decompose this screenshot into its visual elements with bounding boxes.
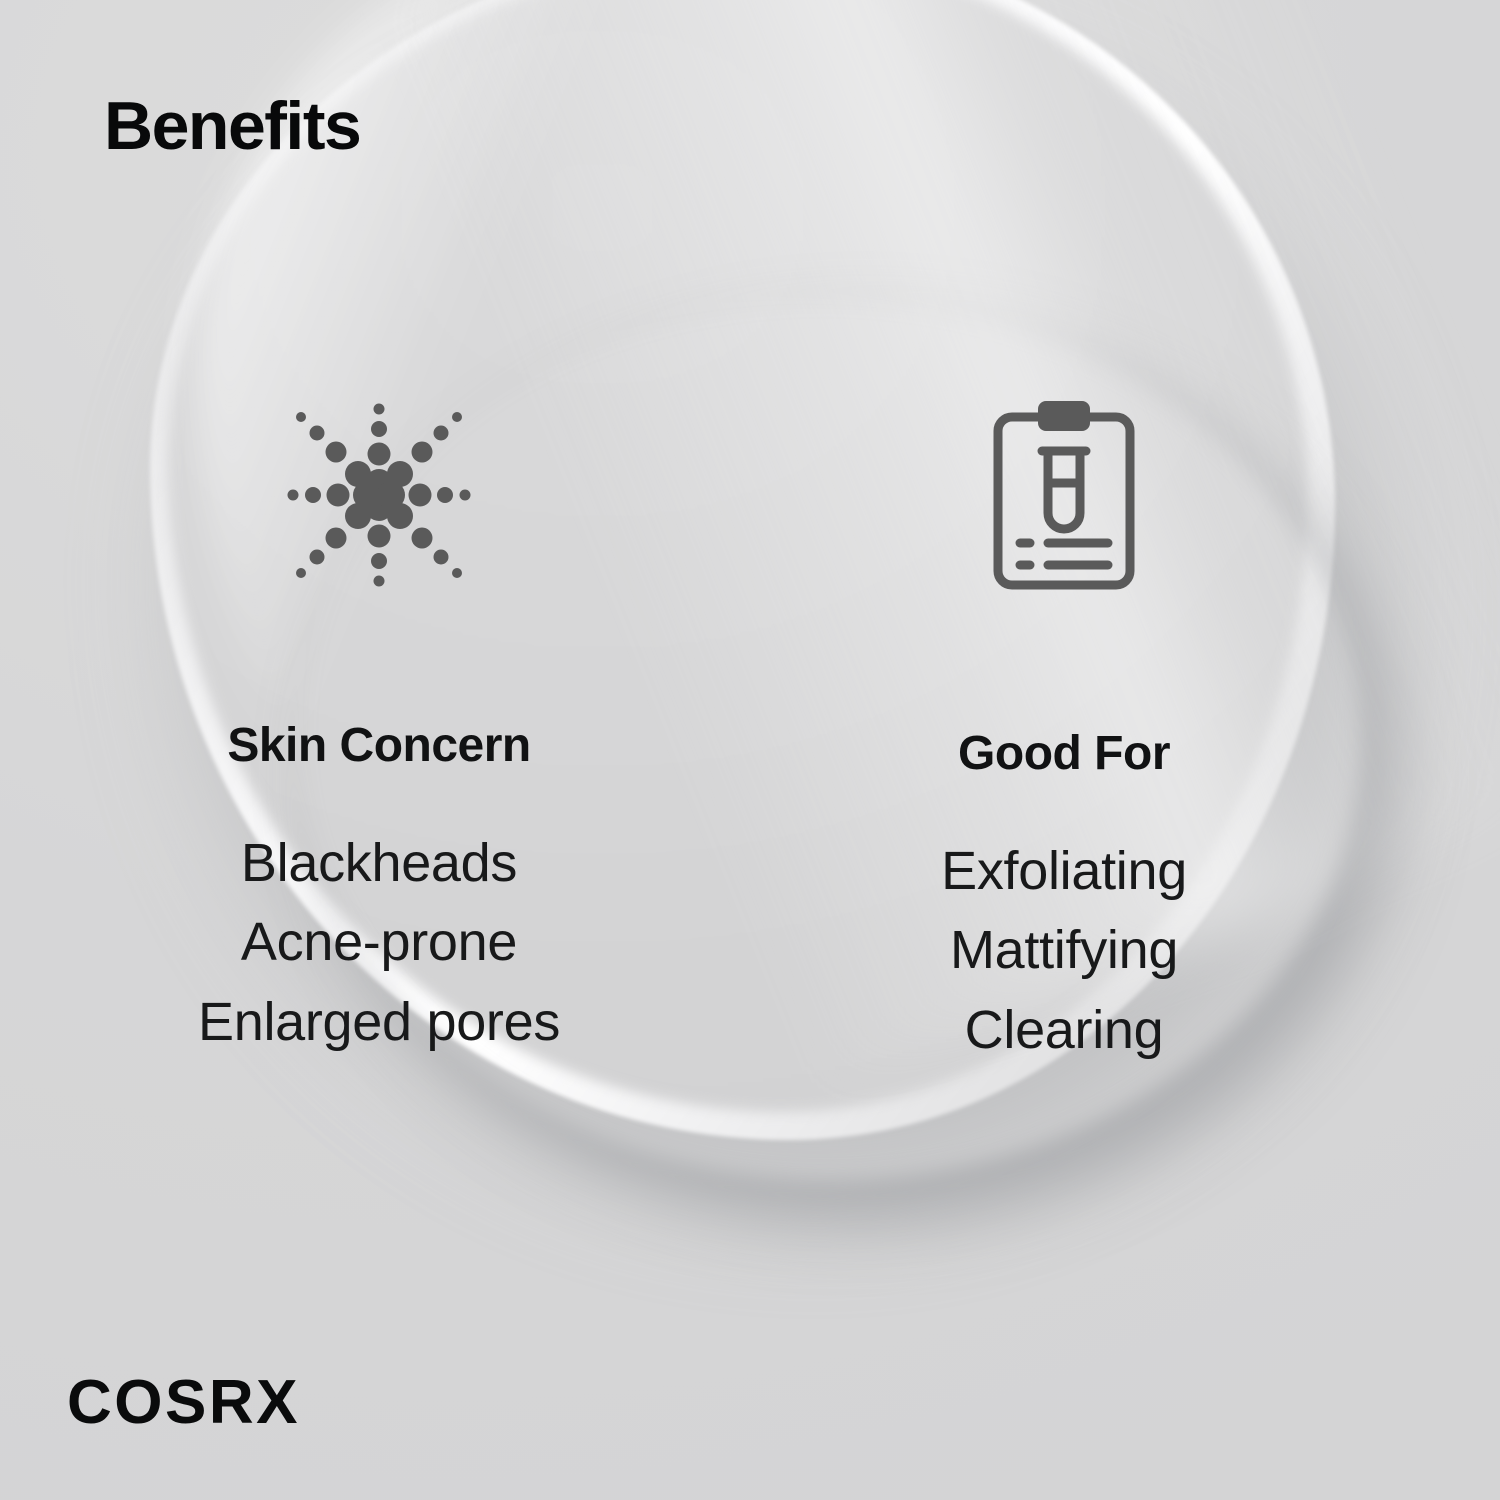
list-item: Blackheads	[241, 824, 517, 903]
clipboard-test-tube-icon	[986, 370, 1142, 628]
list-item: Enlarged pores	[198, 983, 560, 1062]
list-item: Clearing	[965, 991, 1164, 1070]
list-item: Acne-prone	[241, 903, 517, 982]
page-title: Benefits	[104, 92, 360, 160]
brand-logo: COSRX	[67, 1372, 300, 1434]
benefit-column-skin-concern: Skin Concern Blackheads Acne-prone Enlar…	[0, 370, 758, 1070]
column-heading-good-for: Good For	[958, 730, 1170, 778]
list-item: Mattifying	[950, 911, 1178, 990]
content-layer: Benefits	[0, 0, 1500, 1500]
benefit-column-good-for: Good For Exfoliating Mattifying Clearing	[758, 370, 1500, 1070]
benefit-list-skin-concern: Blackheads Acne-prone Enlarged pores	[198, 824, 560, 1062]
sparkle-dots-icon	[269, 370, 489, 620]
list-item: Exfoliating	[941, 832, 1187, 911]
column-heading-skin-concern: Skin Concern	[227, 722, 530, 770]
benefits-columns: Skin Concern Blackheads Acne-prone Enlar…	[0, 370, 1500, 1070]
benefit-list-good-for: Exfoliating Mattifying Clearing	[941, 832, 1187, 1070]
